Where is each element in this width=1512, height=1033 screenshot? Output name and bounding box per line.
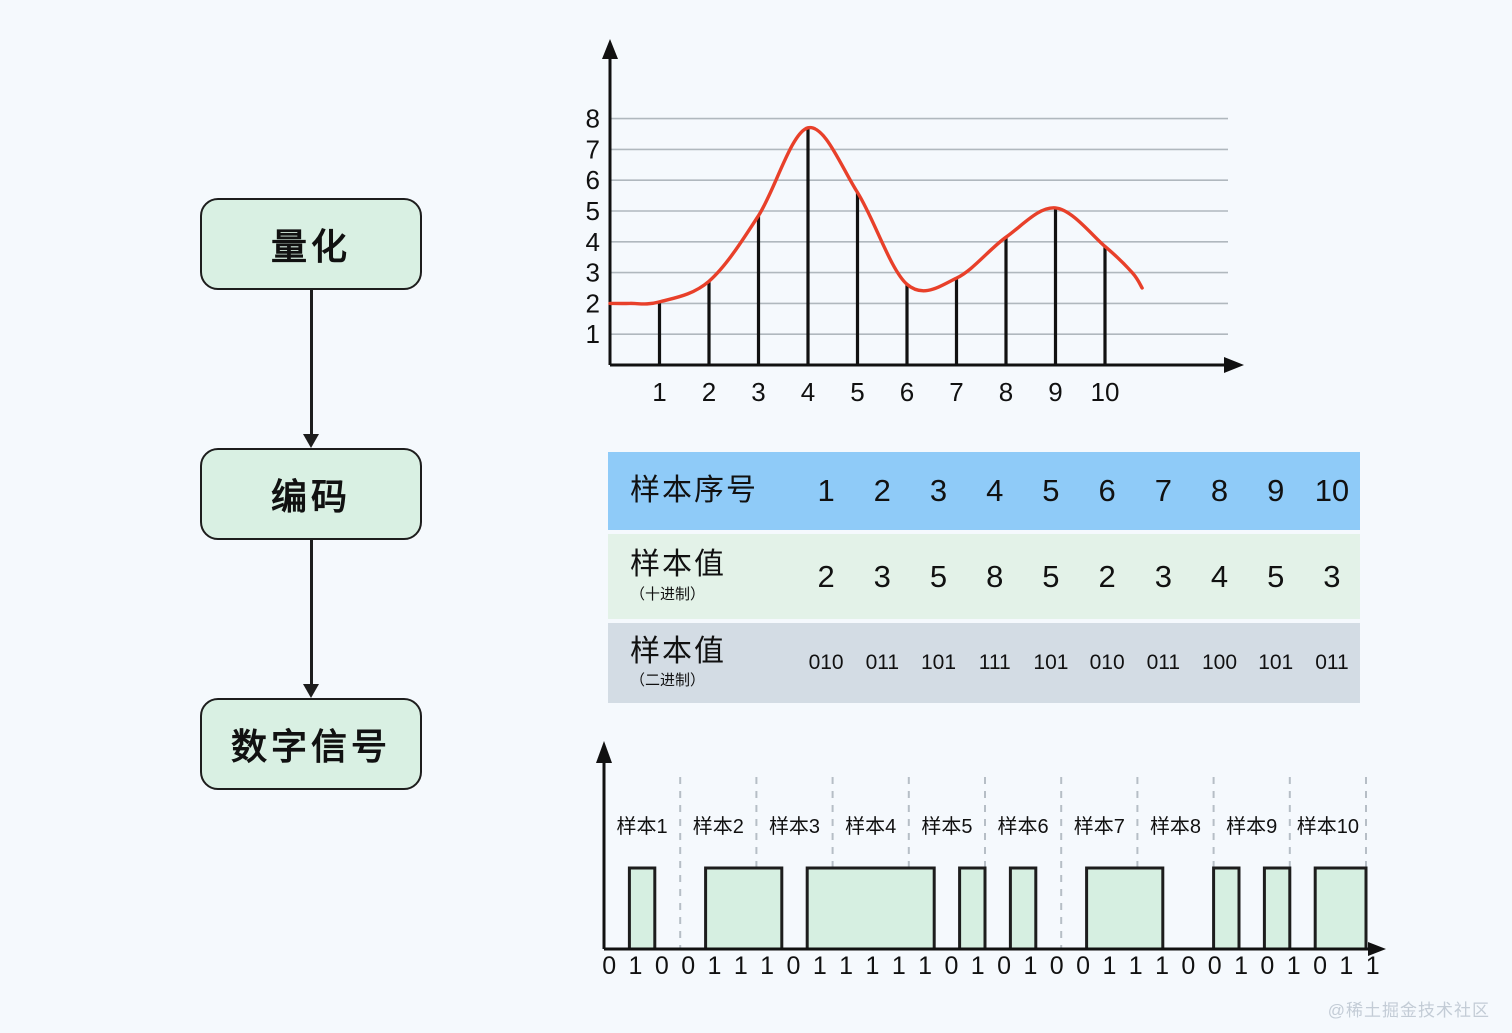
y-tick-label: 5 bbox=[586, 196, 600, 226]
y-tick-label: 7 bbox=[586, 134, 600, 164]
watermark: @稀土掘金技术社区 bbox=[1328, 996, 1490, 1021]
bit-digit: 0 bbox=[1254, 952, 1280, 981]
pulse-rect bbox=[1010, 868, 1035, 949]
segment-label: 样本8 bbox=[1150, 815, 1201, 838]
table-cell: 100 bbox=[1191, 651, 1247, 675]
x-tick-label: 9 bbox=[1048, 377, 1062, 407]
segment-label: 样本3 bbox=[769, 815, 820, 838]
pulse-rect bbox=[960, 868, 985, 949]
table-cell: 101 bbox=[1248, 651, 1304, 675]
process-flowchart: 量化 编码 数字信号 bbox=[200, 190, 430, 800]
table-cell: 5 bbox=[1248, 559, 1304, 595]
table-cell: 011 bbox=[1304, 651, 1360, 675]
table-cell: 011 bbox=[1135, 651, 1191, 675]
y-tick-label: 1 bbox=[586, 319, 600, 349]
table-cell: 6 bbox=[1079, 473, 1135, 509]
sample-table: 样本序号 1 2 3 4 5 6 7 8 9 10 样本值 （十进制） 2 3 … bbox=[608, 452, 1360, 703]
bit-digit: 1 bbox=[886, 952, 912, 981]
bit-digit: 0 bbox=[991, 952, 1017, 981]
y-tick-label: 6 bbox=[586, 165, 600, 195]
bit-digit: 0 bbox=[649, 952, 675, 981]
bit-digit: 0 bbox=[1175, 952, 1201, 981]
segment-label: 样本10 bbox=[1297, 815, 1359, 838]
table-cell: 2 bbox=[854, 473, 910, 509]
bit-digit: 0 bbox=[1307, 952, 1333, 981]
table-cell: 101 bbox=[1023, 651, 1079, 675]
bit-digit: 1 bbox=[622, 952, 648, 981]
bit-digit: 0 bbox=[675, 952, 701, 981]
row-header: 样本值 （二进制） bbox=[608, 636, 798, 691]
row-header-sublabel: （十进制） bbox=[630, 583, 798, 604]
x-tick-label: 8 bbox=[999, 377, 1013, 407]
table-cell: 1 bbox=[798, 473, 854, 509]
x-axis-arrow-icon bbox=[1224, 357, 1244, 373]
table-cell: 7 bbox=[1135, 473, 1191, 509]
analog-signal-curve bbox=[610, 128, 1142, 304]
table-cell: 3 bbox=[1135, 559, 1191, 595]
waveform-y-axis-arrow-icon bbox=[596, 741, 612, 763]
table-cell: 010 bbox=[1079, 651, 1135, 675]
bit-digit: 1 bbox=[1123, 952, 1149, 981]
pulse-rect bbox=[1214, 868, 1239, 949]
waveform-canvas: 样本1样本2样本3样本4样本5样本6样本7样本8样本9样本10 bbox=[590, 735, 1400, 970]
row-header-label: 样本值 bbox=[630, 549, 798, 581]
row-cells: 010 011 101 111 101 010 011 100 101 011 bbox=[798, 651, 1360, 675]
table-cell: 4 bbox=[967, 473, 1023, 509]
bit-digit: 1 bbox=[912, 952, 938, 981]
segment-label: 样本1 bbox=[617, 815, 668, 838]
segment-label: 样本5 bbox=[921, 815, 972, 838]
x-tick-label: 6 bbox=[900, 377, 914, 407]
table-cell: 5 bbox=[910, 559, 966, 595]
x-tick-label: 3 bbox=[751, 377, 765, 407]
row-header-label: 样本序号 bbox=[630, 475, 798, 507]
table-cell: 2 bbox=[1079, 559, 1135, 595]
chart-canvas: 1234567812345678910 bbox=[570, 35, 1260, 410]
flow-arrow-down-icon bbox=[305, 540, 317, 698]
pulse-rect bbox=[1315, 868, 1366, 949]
analog-signal-chart: 1234567812345678910 bbox=[570, 35, 1260, 410]
y-axis-arrow-icon bbox=[602, 39, 618, 59]
bit-digit: 1 bbox=[1096, 952, 1122, 981]
table-cell: 8 bbox=[1191, 473, 1247, 509]
pulse-rect bbox=[1087, 868, 1163, 949]
flow-box-encoding[interactable]: 编码 bbox=[200, 448, 422, 540]
bit-digit: 1 bbox=[1333, 952, 1359, 981]
pulse-rect bbox=[807, 868, 934, 949]
table-row: 样本值 （二进制） 010 011 101 111 101 010 011 10… bbox=[608, 623, 1360, 703]
flow-box-label: 编码 bbox=[271, 468, 351, 520]
bit-digit: 0 bbox=[1044, 952, 1070, 981]
row-cells: 2 3 5 8 5 2 3 4 5 3 bbox=[798, 559, 1360, 595]
flow-box-label: 数字信号 bbox=[231, 718, 391, 770]
x-tick-label: 4 bbox=[801, 377, 815, 407]
table-cell: 010 bbox=[798, 651, 854, 675]
x-tick-label: 7 bbox=[949, 377, 963, 407]
row-cells: 1 2 3 4 5 6 7 8 9 10 bbox=[798, 473, 1360, 509]
flow-box-quantization[interactable]: 量化 bbox=[200, 198, 422, 290]
bit-digit: 0 bbox=[1070, 952, 1096, 981]
table-cell: 5 bbox=[1023, 473, 1079, 509]
bit-digit: 1 bbox=[1228, 952, 1254, 981]
segment-label: 样本7 bbox=[1074, 815, 1125, 838]
segment-label: 样本6 bbox=[998, 815, 1049, 838]
bit-digit: 0 bbox=[1202, 952, 1228, 981]
bit-digit: 1 bbox=[728, 952, 754, 981]
table-cell: 3 bbox=[854, 559, 910, 595]
digital-waveform-chart: 样本1样本2样本3样本4样本5样本6样本7样本8样本9样本10 bbox=[590, 735, 1400, 970]
bit-digit: 1 bbox=[701, 952, 727, 981]
x-tick-label: 10 bbox=[1091, 377, 1120, 407]
bit-digit: 0 bbox=[938, 952, 964, 981]
x-tick-label: 5 bbox=[850, 377, 864, 407]
bit-digit: 0 bbox=[596, 952, 622, 981]
table-cell: 4 bbox=[1191, 559, 1247, 595]
row-header-label: 样本值 bbox=[630, 636, 798, 668]
row-header-sublabel: （二进制） bbox=[630, 669, 798, 690]
bit-digit: 1 bbox=[1017, 952, 1043, 981]
table-cell: 101 bbox=[910, 651, 966, 675]
table-cell: 111 bbox=[967, 651, 1023, 675]
table-cell: 9 bbox=[1248, 473, 1304, 509]
y-tick-label: 2 bbox=[586, 288, 600, 318]
bit-digit: 0 bbox=[780, 952, 806, 981]
bit-sequence: 010011101111101010011100101011 bbox=[596, 952, 1386, 981]
flow-box-label: 量化 bbox=[271, 218, 351, 270]
flow-arrow-down-icon bbox=[305, 290, 317, 448]
bit-digit: 1 bbox=[859, 952, 885, 981]
row-header: 样本值 （十进制） bbox=[608, 549, 798, 604]
segment-label: 样本9 bbox=[1226, 815, 1277, 838]
table-cell: 3 bbox=[910, 473, 966, 509]
flow-box-digital-signal[interactable]: 数字信号 bbox=[200, 698, 422, 790]
table-cell: 10 bbox=[1304, 473, 1360, 509]
bit-digit: 1 bbox=[833, 952, 859, 981]
bit-digit: 1 bbox=[807, 952, 833, 981]
y-tick-label: 4 bbox=[586, 227, 600, 257]
x-tick-label: 2 bbox=[702, 377, 716, 407]
row-header: 样本序号 bbox=[608, 475, 798, 507]
pulse-rect bbox=[629, 868, 654, 949]
pulse-rect bbox=[706, 868, 782, 949]
y-tick-label: 8 bbox=[586, 104, 600, 134]
bit-digit: 1 bbox=[965, 952, 991, 981]
bit-digit: 1 bbox=[1149, 952, 1175, 981]
table-cell: 2 bbox=[798, 559, 854, 595]
table-cell: 3 bbox=[1304, 559, 1360, 595]
bit-digit: 1 bbox=[754, 952, 780, 981]
y-tick-label: 3 bbox=[586, 258, 600, 288]
table-cell: 5 bbox=[1023, 559, 1079, 595]
table-row: 样本值 （十进制） 2 3 5 8 5 2 3 4 5 3 bbox=[608, 534, 1360, 619]
table-cell: 8 bbox=[967, 559, 1023, 595]
segment-label: 样本2 bbox=[693, 815, 744, 838]
table-cell: 011 bbox=[854, 651, 910, 675]
table-row: 样本序号 1 2 3 4 5 6 7 8 9 10 bbox=[608, 452, 1360, 530]
pulse-rect bbox=[1264, 868, 1289, 949]
x-tick-label: 1 bbox=[652, 377, 666, 407]
bit-digit: 1 bbox=[1360, 952, 1386, 981]
segment-label: 样本4 bbox=[845, 815, 896, 838]
bit-digit: 1 bbox=[1281, 952, 1307, 981]
